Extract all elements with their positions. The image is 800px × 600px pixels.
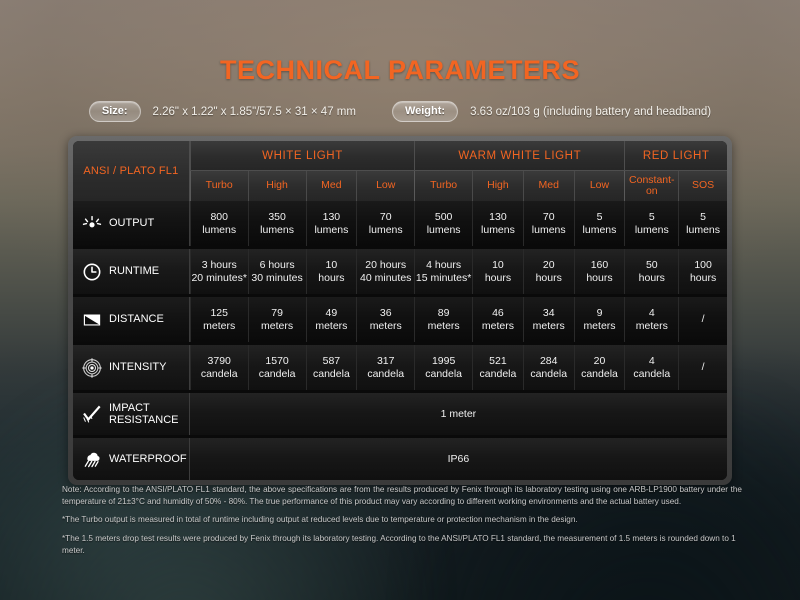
- corner-label: ANSI / PLATO FL1: [73, 141, 190, 201]
- table-row-runtime: RUNTIME 3 hours 20 minutes* 6 hours 30 m…: [73, 249, 727, 294]
- cell-runtime-white-med: 10 hours: [306, 249, 357, 294]
- weight-label-pill: Weight:: [392, 101, 458, 122]
- footnote-standard: Note: According to the ANSI/PLATO FL1 st…: [62, 484, 742, 507]
- weight-value: 3.63 oz/103 g (including battery and hea…: [470, 106, 711, 118]
- cell-runtime-red-constant-on: 50 hours: [624, 249, 678, 294]
- mode-header-white-high: High: [248, 171, 306, 201]
- footnote-turbo: *The Turbo output is measured in total o…: [62, 514, 742, 526]
- cell-output-white-med: 130 lumens: [306, 201, 357, 246]
- group-header-white-light: WHITE LIGHT: [190, 141, 414, 171]
- spec-table-panel: ANSI / PLATO FL1 WHITE LIGHT WARM WHITE …: [68, 136, 732, 485]
- mode-header-warm-turbo: Turbo: [414, 171, 472, 201]
- cell-runtime-white-turbo: 3 hours 20 minutes*: [190, 249, 248, 294]
- cell-output-white-turbo: 800 lumens: [190, 201, 248, 246]
- clock-icon: [82, 262, 102, 282]
- cell-distance-white-turbo: 125 meters: [190, 297, 248, 342]
- mode-header-warm-low: Low: [574, 171, 625, 201]
- cell-distance-red-constant-on: 4 meters: [624, 297, 678, 342]
- table-header: ANSI / PLATO FL1 WHITE LIGHT WARM WHITE …: [73, 141, 727, 201]
- mode-header-red-constant-on: Constant- on: [624, 171, 678, 201]
- mode-header-warm-med: Med: [523, 171, 574, 201]
- mode-header-white-turbo: Turbo: [190, 171, 248, 201]
- cell-intensity-warm-turbo: 1995 candela: [414, 345, 472, 390]
- cell-distance-white-low: 36 meters: [356, 297, 414, 342]
- cell-distance-warm-low: 9 meters: [574, 297, 625, 342]
- cell-output-red-sos: 5 lumens: [678, 201, 727, 246]
- spec-table-inner: ANSI / PLATO FL1 WHITE LIGHT WARM WHITE …: [73, 141, 727, 480]
- cell-distance-warm-high: 46 meters: [472, 297, 523, 342]
- waterproof-rain-icon: [82, 449, 102, 469]
- row-label-runtime-text: RUNTIME: [109, 265, 159, 278]
- cell-intensity-white-turbo: 3790 candela: [190, 345, 248, 390]
- cell-intensity-white-high: 1570 candela: [248, 345, 306, 390]
- cell-intensity-red-sos: /: [678, 345, 727, 390]
- weight-spec: Weight: 3.63 oz/103 g (including battery…: [392, 101, 711, 122]
- screenshot-root: TECHNICAL PARAMETERS Size: 2.26" x 1.22"…: [0, 0, 800, 600]
- cell-runtime-warm-med: 20 hours: [523, 249, 574, 294]
- cell-distance-warm-med: 34 meters: [523, 297, 574, 342]
- cell-runtime-red-sos: 100 hours: [678, 249, 727, 294]
- footnotes: Note: According to the ANSI/PLATO FL1 st…: [62, 484, 742, 556]
- group-header-red-light: RED LIGHT: [624, 141, 727, 171]
- row-label-impact-resistance-text: IMPACT RESISTANCE: [109, 402, 178, 426]
- group-header-row: ANSI / PLATO FL1 WHITE LIGHT WARM WHITE …: [73, 141, 727, 171]
- table-row-impact-resistance: IMPACT RESISTANCE 1 meter: [73, 393, 727, 435]
- technical-parameters-table: ANSI / PLATO FL1 WHITE LIGHT WARM WHITE …: [73, 141, 727, 480]
- cell-impact-resistance-value: 1 meter: [190, 393, 727, 435]
- row-label-runtime: RUNTIME: [73, 249, 190, 294]
- table-row-intensity: INTENSITY 3790 candela 1570 candela 587 …: [73, 345, 727, 390]
- cell-distance-white-high: 79 meters: [248, 297, 306, 342]
- cell-distance-warm-turbo: 89 meters: [414, 297, 472, 342]
- row-label-intensity: INTENSITY: [73, 345, 190, 390]
- cell-distance-white-med: 49 meters: [306, 297, 357, 342]
- row-label-output: OUTPUT: [73, 201, 190, 246]
- cell-intensity-red-constant-on: 4 candela: [624, 345, 678, 390]
- cell-intensity-white-med: 587 candela: [306, 345, 357, 390]
- cell-runtime-warm-low: 160 hours: [574, 249, 625, 294]
- group-header-warm-white-light: WARM WHITE LIGHT: [414, 141, 624, 171]
- row-label-output-text: OUTPUT: [109, 217, 154, 230]
- cell-output-warm-low: 5 lumens: [574, 201, 625, 246]
- table-body: OUTPUT 800 lumens 350 lumens 130 lumens …: [73, 201, 727, 480]
- beam-distance-icon: [82, 310, 102, 330]
- row-label-waterproof: WATERPROOF: [73, 438, 190, 480]
- mode-header-white-low: Low: [356, 171, 414, 201]
- mode-header-white-med: Med: [306, 171, 357, 201]
- table-row-distance: DISTANCE 125 meters 79 meters 49 meters …: [73, 297, 727, 342]
- cell-output-white-high: 350 lumens: [248, 201, 306, 246]
- cell-runtime-white-low: 20 hours 40 minutes: [356, 249, 414, 294]
- table-row-waterproof: WATERPROOF IP66: [73, 438, 727, 480]
- row-label-distance-text: DISTANCE: [109, 313, 164, 326]
- cell-output-warm-high: 130 lumens: [472, 201, 523, 246]
- cell-runtime-warm-turbo: 4 hours 15 minutes*: [414, 249, 472, 294]
- cell-output-red-constant-on: 5 lumens: [624, 201, 678, 246]
- output-burst-icon: [82, 214, 102, 234]
- cell-distance-red-sos: /: [678, 297, 727, 342]
- size-value: 2.26" x 1.22" x 1.85"/57.5 × 31 × 47 mm: [153, 106, 356, 118]
- row-label-impact-resistance: IMPACT RESISTANCE: [73, 393, 190, 435]
- cell-runtime-warm-high: 10 hours: [472, 249, 523, 294]
- size-spec: Size: 2.26" x 1.22" x 1.85"/57.5 × 31 × …: [89, 101, 356, 122]
- impact-drop-icon: [82, 404, 102, 424]
- cell-waterproof-value: IP66: [190, 438, 727, 480]
- intensity-target-icon: [82, 358, 102, 378]
- size-weight-line: Size: 2.26" x 1.22" x 1.85"/57.5 × 31 × …: [0, 101, 800, 122]
- cell-intensity-warm-low: 20 candela: [574, 345, 625, 390]
- cell-output-warm-turbo: 500 lumens: [414, 201, 472, 246]
- cell-output-warm-med: 70 lumens: [523, 201, 574, 246]
- footnote-drop-test: *The 1.5 meters drop test results were p…: [62, 533, 742, 556]
- cell-runtime-white-high: 6 hours 30 minutes: [248, 249, 306, 294]
- table-row-output: OUTPUT 800 lumens 350 lumens 130 lumens …: [73, 201, 727, 246]
- row-label-intensity-text: INTENSITY: [109, 361, 166, 374]
- row-label-distance: DISTANCE: [73, 297, 190, 342]
- size-label-pill: Size:: [89, 101, 141, 122]
- cell-output-white-low: 70 lumens: [356, 201, 414, 246]
- row-label-waterproof-text: WATERPROOF: [109, 453, 187, 465]
- mode-header-warm-high: High: [472, 171, 523, 201]
- cell-intensity-white-low: 317 candela: [356, 345, 414, 390]
- mode-header-red-sos: SOS: [678, 171, 727, 201]
- cell-intensity-warm-high: 521 candela: [472, 345, 523, 390]
- page-title: TECHNICAL PARAMETERS: [0, 55, 800, 86]
- cell-intensity-warm-med: 284 candela: [523, 345, 574, 390]
